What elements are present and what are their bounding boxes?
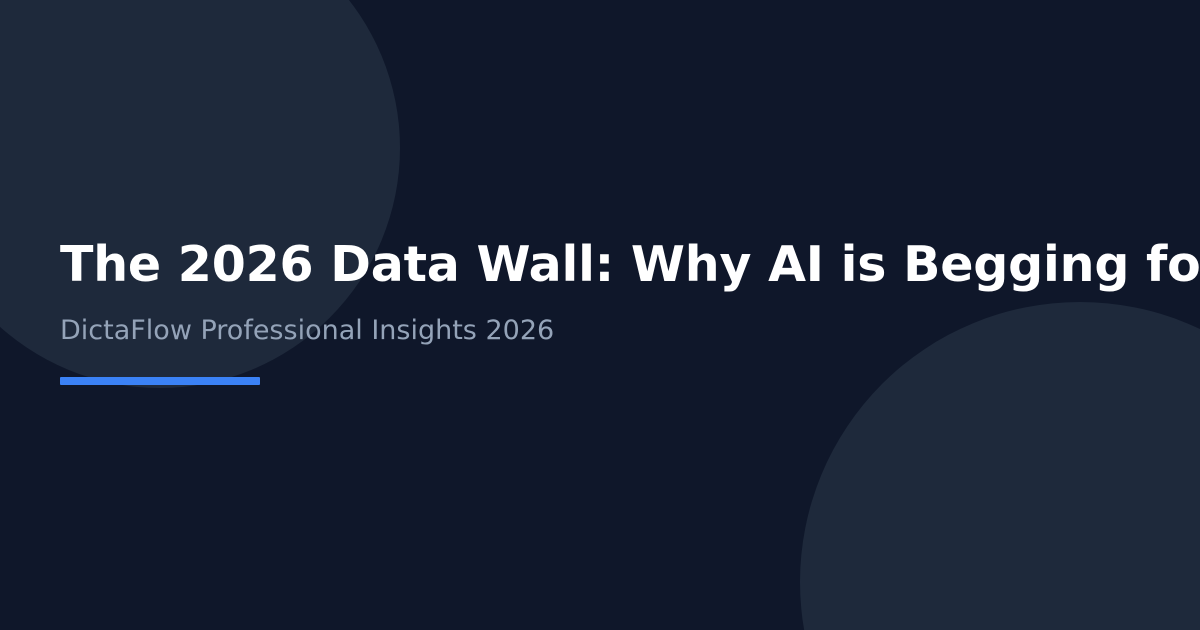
card-content: The 2026 Data Wall: Why AI is Begging fo… bbox=[60, 238, 1200, 385]
social-share-card: The 2026 Data Wall: Why AI is Begging fo… bbox=[0, 0, 1200, 630]
page-title: The 2026 Data Wall: Why AI is Begging fo… bbox=[60, 238, 1200, 293]
accent-bar bbox=[60, 377, 260, 385]
card-subtitle: DictaFlow Professional Insights 2026 bbox=[60, 315, 1200, 347]
